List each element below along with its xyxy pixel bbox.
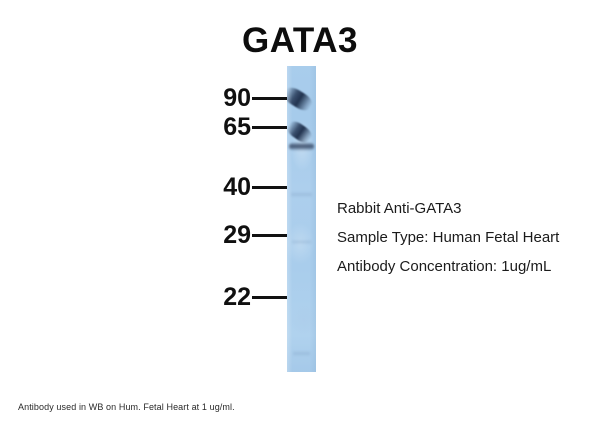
band-upper-diagonal [287, 84, 315, 113]
marker-tick-90 [252, 97, 292, 100]
marker-row: 22 [196, 284, 291, 310]
marker-label-40: 40 [199, 174, 251, 200]
western-blot-figure: GATA3 9065402922 Rabbit Anti-GATA3 Sampl… [0, 0, 600, 430]
marker-row: 90 [196, 85, 291, 111]
marker-tick-22 [252, 296, 292, 299]
marker-label-22: 22 [199, 284, 251, 310]
molecular-weight-ladder: 9065402922 [196, 60, 291, 380]
marker-row: 29 [196, 222, 291, 248]
page-title: GATA3 [0, 22, 600, 60]
marker-tick-40 [252, 186, 292, 189]
marker-label-90: 90 [199, 85, 251, 111]
band-main-horizontal [289, 142, 314, 151]
band-faint-low [293, 351, 310, 356]
annotation-antibody: Rabbit Anti-GATA3 [337, 194, 592, 223]
marker-label-65: 65 [199, 114, 251, 140]
annotation-block: Rabbit Anti-GATA3 Sample Type: Human Fet… [337, 194, 592, 281]
marker-label-29: 29 [199, 222, 251, 248]
marker-tick-65 [252, 126, 292, 129]
annotation-concentration: Antibody Concentration: 1ug/mL [337, 252, 592, 281]
annotation-sample-type: Sample Type: Human Fetal Heart [337, 223, 592, 252]
band-faint-40kda [291, 192, 312, 197]
marker-row: 65 [196, 114, 291, 140]
western-blot-lane [287, 66, 316, 372]
band-faint-29kda [292, 240, 311, 244]
marker-row: 40 [196, 174, 291, 200]
footer-caption: Antibody used in WB on Hum. Fetal Heart … [18, 401, 235, 413]
marker-tick-29 [252, 234, 292, 237]
